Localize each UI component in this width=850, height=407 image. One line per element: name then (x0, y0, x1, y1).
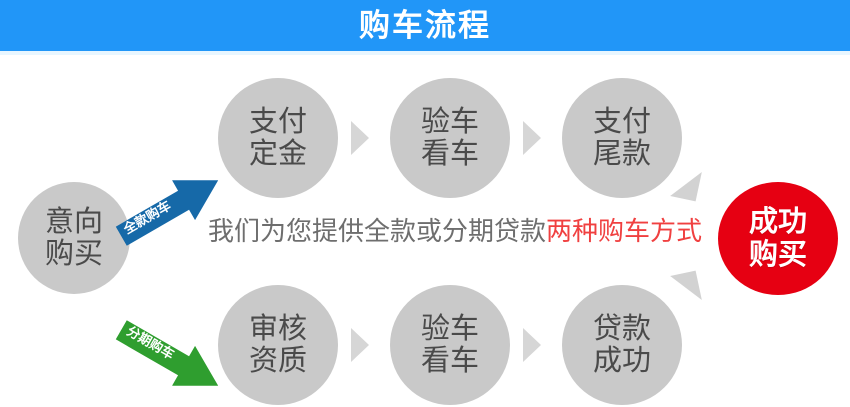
node-label-line2: 购买 (45, 238, 103, 270)
node-label-line2: 购买 (749, 239, 807, 271)
node-label-line2: 成功 (593, 345, 651, 377)
node-intent-to-purchase: 意向 购买 (18, 182, 130, 294)
header-banner: 购车流程 (0, 0, 850, 51)
center-note-red: 两种购车方式 (546, 216, 702, 246)
connector-triangle-icon (351, 121, 369, 155)
node-label-line1: 成功 (749, 206, 807, 238)
node-label-line2: 资质 (249, 345, 307, 377)
node-label-line2: 定金 (249, 138, 307, 170)
node-label-line1: 验车 (421, 313, 479, 345)
node-inspect-car-top: 验车 看车 (390, 78, 510, 198)
merge-triangle-bottom-icon (670, 271, 702, 306)
connector-triangle-icon (523, 121, 541, 155)
node-purchase-success: 成功 购买 (718, 182, 838, 295)
node-loan-approved: 贷款 成功 (562, 285, 682, 405)
node-label-line1: 支付 (593, 106, 651, 138)
center-note: 我们为您提供全款或分期贷款两种购车方式 (208, 218, 678, 244)
page-title: 购车流程 (359, 10, 491, 41)
merge-triangle-top-icon (670, 167, 702, 202)
flow-canvas: 意向 购买 全款购车 分期购车 支付 定金 验车 看车 (0, 55, 850, 407)
node-pay-balance: 支付 尾款 (562, 78, 682, 198)
node-label-line2: 看车 (421, 138, 479, 170)
node-pay-deposit: 支付 定金 (218, 78, 338, 198)
center-note-gray: 我们为您提供全款或分期贷款 (208, 216, 546, 246)
node-inspect-car-bottom: 验车 看车 (390, 285, 510, 405)
connector-triangle-icon (523, 328, 541, 362)
connector-triangle-icon (351, 328, 369, 362)
node-label-line2: 尾款 (593, 138, 651, 170)
node-review-qualification: 审核 资质 (218, 285, 338, 405)
node-label-line1: 意向 (45, 206, 103, 238)
branch-arrow-installment: 分期购车 (110, 310, 230, 406)
node-label-line1: 验车 (421, 106, 479, 138)
node-label-line1: 支付 (249, 106, 307, 138)
node-label-line2: 看车 (421, 345, 479, 377)
node-label-line1: 贷款 (593, 313, 651, 345)
node-label-line1: 审核 (249, 313, 307, 345)
purchase-flow-infographic: 购车流程 意向 购买 全款购车 分期购车 支付 定金 验 (0, 0, 850, 407)
